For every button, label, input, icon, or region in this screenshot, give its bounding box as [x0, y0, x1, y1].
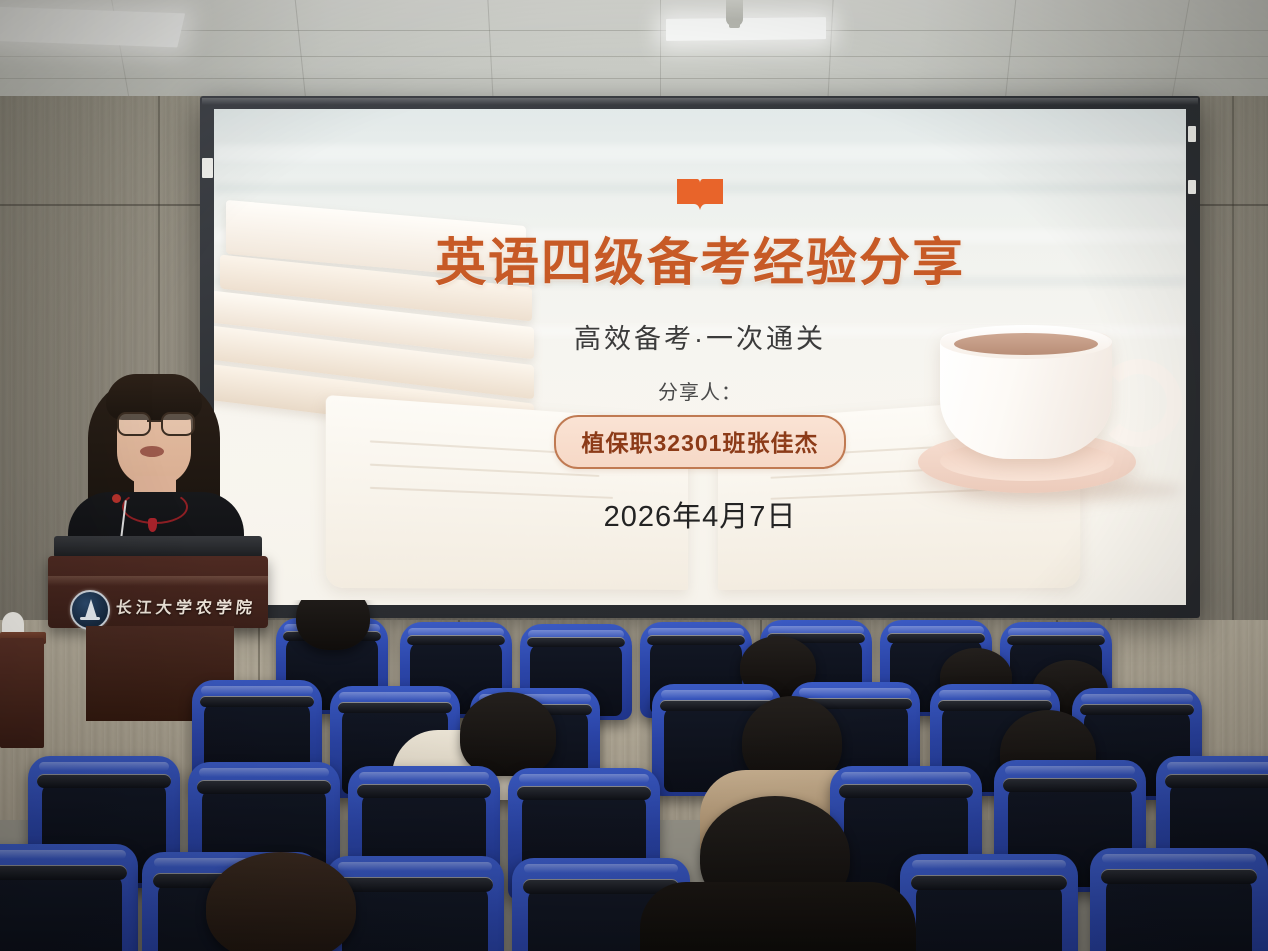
ceiling	[0, 0, 1268, 100]
audience-seating	[0, 600, 1268, 951]
seat	[0, 844, 138, 951]
seat	[1090, 848, 1268, 951]
lecture-hall-photo: 英语四级备考经验分享 高效备考·一次通关 分享人： 植保职32301班张佳杰 2…	[0, 0, 1268, 951]
audience-head	[296, 600, 370, 650]
slide-subtitle: 高效备考·一次通关	[574, 317, 826, 356]
audience-shoulders	[640, 882, 916, 951]
open-book-icon	[675, 177, 725, 213]
room: 英语四级备考经验分享 高效备考·一次通关 分享人： 植保职32301班张佳杰 2…	[0, 0, 1268, 951]
projected-slide: 英语四级备考经验分享 高效备考·一次通关 分享人： 植保职32301班张佳杰 2…	[214, 109, 1186, 605]
audience-head	[206, 852, 356, 951]
presenter-badge: 植保职32301班张佳杰	[554, 415, 847, 469]
glasses-icon	[116, 412, 194, 432]
presenter-label: 分享人：	[658, 376, 742, 405]
audience-head	[460, 692, 556, 776]
slide-content: 英语四级备考经验分享 高效备考·一次通关 分享人： 植保职32301班张佳杰 2…	[214, 109, 1186, 605]
microphone-head	[112, 494, 121, 503]
seat	[900, 854, 1078, 951]
projection-screen-frame: 英语四级备考经验分享 高效备考·一次通关 分享人： 植保职32301班张佳杰 2…	[200, 96, 1200, 618]
slide-title: 英语四级备考经验分享	[435, 237, 965, 288]
slide-date: 2026年4月7日	[604, 493, 797, 535]
